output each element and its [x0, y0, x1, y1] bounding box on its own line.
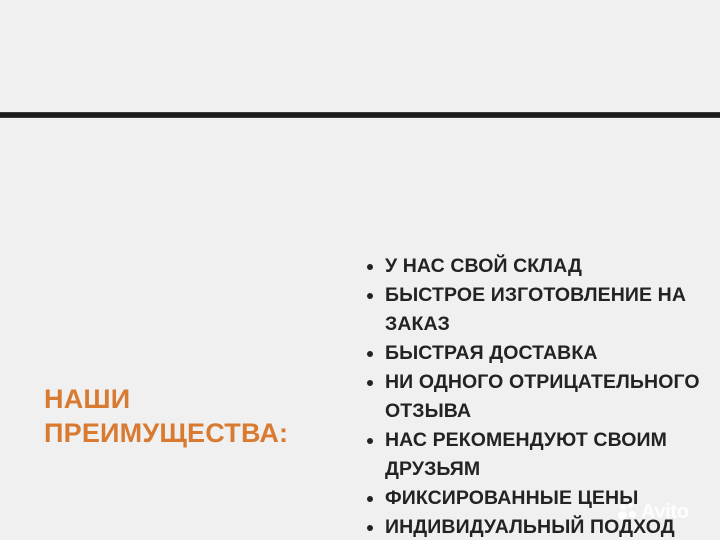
list-item-label: ФИКСИРОВАННЫЕ ЦЕНЫ: [385, 487, 638, 509]
list-item: НАС РЕКОМЕНДУЮТ СВОИМ ДРУЗЬЯМ: [365, 426, 713, 484]
bullet-icon: [367, 438, 373, 444]
bullet-icon: [367, 380, 373, 386]
bullet-icon: [367, 525, 373, 531]
benefits-list: У НАС СВОЙ СКЛАД БЫСТРОЕ ИЗГОТОВЛЕНИЕ НА…: [365, 252, 713, 540]
bullet-icon: [367, 293, 373, 299]
bullet-icon: [367, 351, 373, 357]
slide-content: НАШИ ПРЕИМУЩЕСТВА: У НАС СВОЙ СКЛАД БЫСТ…: [0, 118, 720, 540]
list-item-label: БЫСТРОЕ ИЗГОТОВЛЕНИЕ НА ЗАКАЗ: [385, 284, 686, 335]
list-item-label: НИ ОДНОГО ОТРИЦАТЕЛЬНОГО ОТЗЫВА: [385, 371, 700, 422]
avito-watermark-label: Avito: [641, 503, 689, 522]
list-item: БЫСТРОЕ ИЗГОТОВЛЕНИЕ НА ЗАКАЗ: [365, 281, 713, 339]
list-item-label: НАС РЕКОМЕНДУЮТ СВОИМ ДРУЗЬЯМ: [385, 429, 667, 480]
avito-dots-logo-icon: [618, 503, 637, 522]
avito-watermark: Avito: [618, 503, 689, 522]
bullet-icon: [367, 496, 373, 502]
list-item: У НАС СВОЙ СКЛАД: [365, 252, 713, 281]
promo-slide: НАШИ ПРЕИМУЩЕСТВА: У НАС СВОЙ СКЛАД БЫСТ…: [0, 0, 720, 540]
list-item-label: БЫСТРАЯ ДОСТАВКА: [385, 342, 598, 364]
list-item: БЫСТРАЯ ДОСТАВКА: [365, 339, 713, 368]
list-item-label: У НАС СВОЙ СКЛАД: [385, 255, 582, 277]
top-blank-band: [0, 0, 720, 112]
list-item: НИ ОДНОГО ОТРИЦАТЕЛЬНОГО ОТЗЫВА: [365, 368, 713, 426]
page-title: НАШИ ПРЕИМУЩЕСТВА:: [44, 382, 344, 450]
bullet-icon: [367, 264, 373, 270]
